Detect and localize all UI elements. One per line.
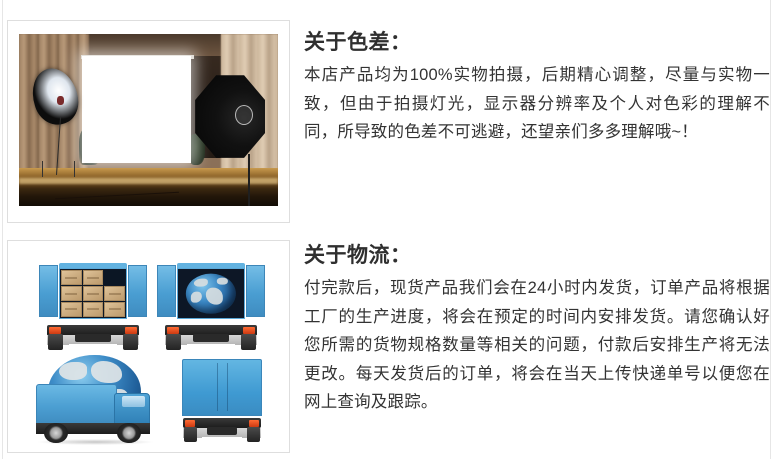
tail-light-left-icon	[49, 327, 61, 334]
logistics-illustration	[8, 241, 289, 452]
cardboard-box-icon	[61, 270, 82, 285]
truck-door-left	[157, 265, 176, 317]
page-title-color-difference: 关于色差：	[304, 20, 770, 56]
cardboard-box-grid	[60, 269, 126, 317]
tail-light-left-icon	[167, 327, 179, 334]
tripod-legs-left	[42, 161, 75, 176]
cardboard-box-icon	[83, 286, 104, 301]
page-title-logistics: 关于物流：	[304, 240, 770, 269]
color-difference-body: 本店产品均为100%实物拍摄，后期精心调整，尽量与实物一致，但由于拍摄灯光，显示…	[304, 61, 770, 147]
truck-chassis	[183, 415, 260, 444]
truck-cargo-box	[36, 384, 117, 424]
truck-cargo-bay	[177, 268, 245, 318]
logistics-body: 付完款后，现货产品我们会在24小时内发货，订单产品将根据工厂的生产进度，将会在预…	[304, 274, 770, 417]
globe-landmass	[191, 292, 202, 303]
truck-wheel-left	[48, 334, 64, 351]
logistics-illustration-panel	[7, 240, 290, 453]
studio-photo-panel	[7, 20, 290, 223]
cardboard-box-icon	[104, 286, 125, 301]
tail-light-right-icon	[243, 327, 255, 334]
cardboard-box-icon	[104, 302, 125, 317]
truck-rear-doors	[182, 359, 263, 416]
globe-landmass	[194, 279, 208, 287]
octabox-softbox-icon	[195, 75, 265, 158]
truck-wheel-left	[184, 427, 197, 443]
truck-chassis	[47, 322, 139, 353]
globe-landmass	[217, 278, 228, 285]
white-backdrop	[82, 56, 191, 163]
truck-wheel-right	[123, 334, 139, 351]
truck-chassis	[165, 322, 257, 353]
globe-icon	[186, 273, 236, 314]
truck-wheel-right	[241, 334, 257, 351]
truck-door-right	[246, 265, 265, 317]
logistics-text: 关于物流： 付完款后，现货产品我们会在24小时内发货，订单产品将根据工厂的生产进…	[304, 240, 770, 417]
tail-light-left-icon	[185, 420, 195, 426]
studio-photo	[19, 34, 278, 206]
globe-landmass	[59, 362, 87, 380]
truck-door-right	[128, 265, 147, 317]
truck-with-boxes-icon	[38, 263, 148, 353]
truck-undercarriage-gap	[202, 437, 242, 445]
globe-landmass	[91, 361, 122, 383]
truck-door-left	[39, 265, 58, 317]
truck-undercarriage-gap	[187, 344, 235, 352]
cardboard-box-icon	[61, 302, 82, 317]
light-stand-right	[248, 154, 249, 206]
truck-window	[122, 396, 144, 407]
stage-floor-highlight	[19, 178, 278, 183]
truck-closed-doors-icon	[176, 359, 268, 445]
color-difference-text: 关于色差： 本店产品均为100%实物拍摄，后期精心调整，尽量与实物一致，但由于拍…	[304, 20, 770, 147]
cardboard-box-icon	[83, 270, 104, 285]
truck-undercarriage-gap	[69, 344, 117, 352]
section-color-difference: 关于色差： 本店产品均为100%实物拍摄，后期精心调整，尽量与实物一致，但由于拍…	[7, 20, 770, 223]
section-logistics: 关于物流： 付完款后，现货产品我们会在24小时内发货，订单产品将根据工厂的生产进…	[7, 240, 770, 453]
truck-axle	[193, 334, 230, 342]
truck-with-globe-icon	[156, 263, 266, 353]
truck-axle	[75, 334, 112, 342]
truck-cargo-bay	[59, 268, 127, 318]
cargo-gap	[104, 270, 125, 285]
cardboard-box-icon	[83, 302, 104, 317]
truck-axle	[207, 427, 238, 435]
tail-light-right-icon	[125, 327, 137, 334]
studio-ceiling-beam	[86, 34, 221, 56]
truck-wheel-right	[247, 427, 260, 443]
truck-shadow	[38, 439, 153, 445]
delivery-truck-side-icon	[30, 353, 170, 445]
truck-wheel-left	[166, 334, 182, 351]
cardboard-box-icon	[61, 286, 82, 301]
tail-light-right-icon	[249, 420, 259, 426]
globe-landmass	[206, 288, 223, 305]
lamp-head-icon	[57, 96, 64, 105]
